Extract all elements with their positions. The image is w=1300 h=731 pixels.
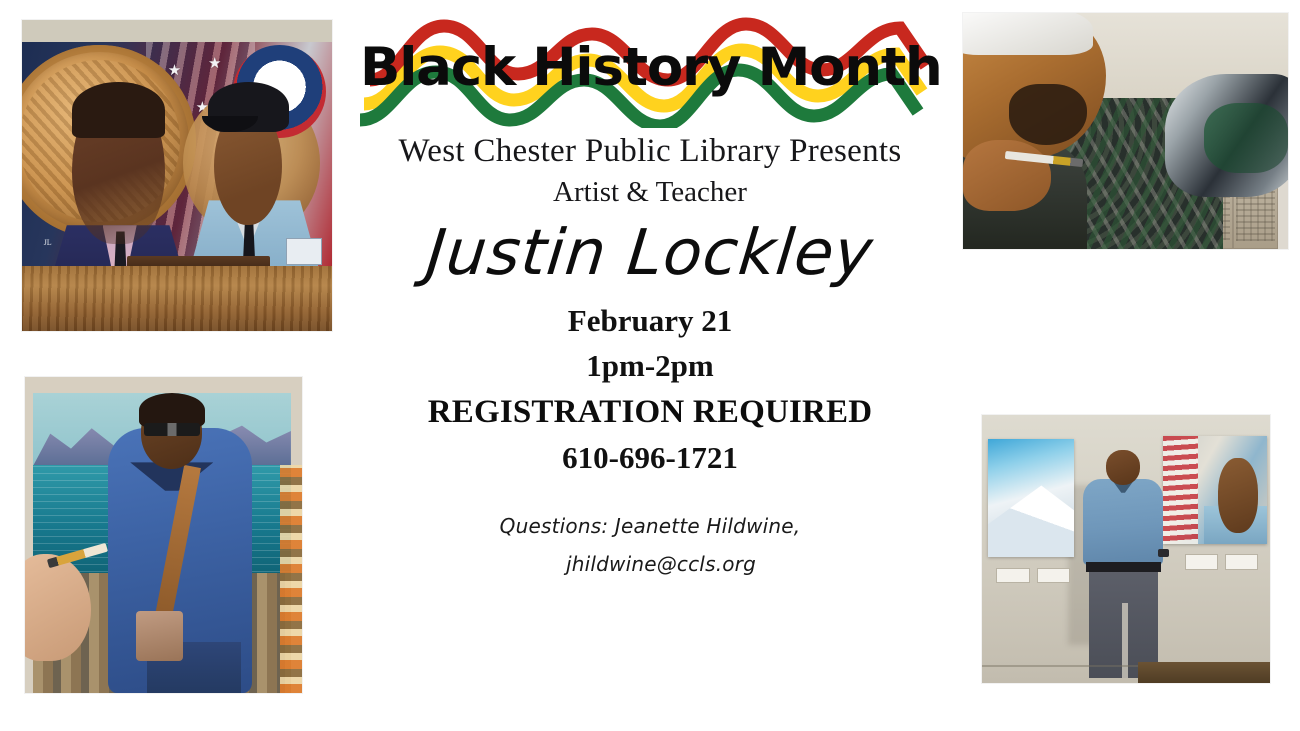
contact-email[interactable]: jhildwine@ccls.org (350, 545, 950, 583)
denim-portrait-scene (25, 377, 302, 693)
registration-notice: REGISTRATION REQUIRED (350, 389, 950, 436)
featured-artist-name: Justin Lockley (346, 218, 953, 289)
subject-shoulder-bag (136, 611, 183, 662)
young-soldier-hair (72, 82, 165, 138)
player-cap (963, 13, 1093, 55)
painted-veteran-face (1218, 458, 1258, 533)
table-wood-grain (22, 266, 332, 331)
event-date: February 21 (350, 299, 950, 344)
photo-parade-painting: In-progress painting of a football champ… (963, 13, 1288, 249)
page-title: Black History Month (360, 8, 940, 128)
veteran-portrait-scene: ★ ★ ★ ★ ✦ JL (22, 20, 332, 331)
photo-denim-portrait: Painting of a woman in a denim jacket an… (25, 377, 302, 693)
subject-sunglasses (144, 423, 199, 436)
event-time: 1pm-2pm (350, 344, 950, 389)
artwork-label (1037, 568, 1071, 583)
studio-shelf (280, 465, 302, 693)
baseboard (1138, 662, 1270, 683)
presenter-line: West Chester Public Library Presents (350, 132, 950, 171)
painted-flag (1163, 436, 1198, 543)
black-history-month-banner: Black History Month (360, 8, 940, 128)
artwork-label (1225, 554, 1259, 569)
contact-questions-line: Questions: Jeanette Hildwine, (350, 507, 950, 545)
artist-signature: JL (44, 238, 52, 247)
artwork-label (1185, 554, 1219, 569)
artist-wristwatch (1158, 549, 1170, 557)
flag-star-icon: ★ (208, 57, 221, 72)
photo-artist-gallery: The artist standing in a gallery in a bl… (982, 415, 1270, 683)
trophy-reflection (1204, 103, 1289, 174)
contact-info: Questions: Jeanette Hildwine, jhildwine@… (350, 507, 950, 583)
artist-gallery-scene (982, 415, 1270, 683)
artist-face (1106, 450, 1141, 485)
artist-belt (1086, 562, 1161, 571)
seal-star-icon: ✦ (283, 70, 295, 87)
photo-veteran-portrait: ★ ★ ★ ★ ✦ JL Painting of a young soldier… (22, 20, 332, 331)
veteran-name-badge (286, 238, 322, 265)
registration-phone[interactable]: 610-696-1721 (350, 436, 950, 481)
event-details: West Chester Public Library Presents Art… (350, 132, 950, 583)
artwork-label (996, 568, 1030, 583)
role-line: Artist & Teacher (350, 171, 950, 215)
parade-painting-scene (963, 13, 1288, 249)
